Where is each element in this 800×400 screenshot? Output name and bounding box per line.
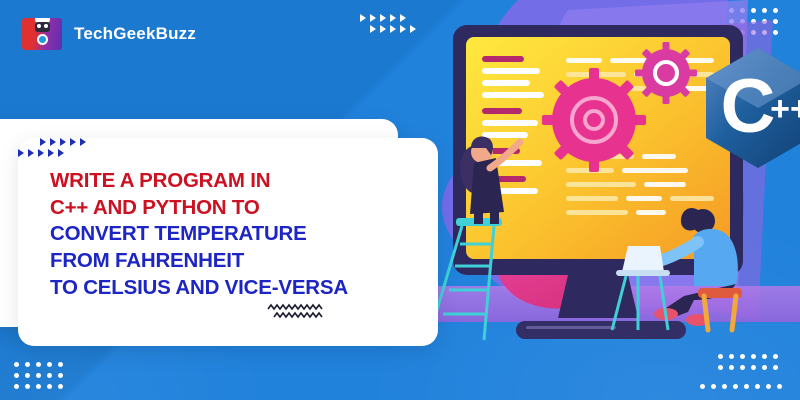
banner-root: TechGeekBuzz: [0, 0, 800, 400]
zigzag-line-icon: [266, 303, 342, 321]
page-title: WRITE A PROGRAM IN C++ AND PYTHON TO CON…: [50, 168, 390, 301]
headline-line-4: FROM FAHRENHEIT: [50, 248, 390, 275]
svg-text:++: ++: [770, 90, 800, 128]
headline-line-2: C++ AND PYTHON TO: [50, 195, 390, 222]
headline-line-3: CONVERT TEMPERATURE: [50, 221, 390, 248]
gear-icon: [542, 68, 646, 172]
svg-text:C: C: [721, 64, 776, 149]
brand-logo[interactable]: TechGeekBuzz: [22, 18, 196, 50]
brand-name: TechGeekBuzz: [74, 24, 196, 44]
gear-icon: [635, 42, 697, 104]
developers-at-monitor-illustration: C ++: [398, 0, 800, 400]
keyboard-icon: [516, 321, 686, 339]
headline-line-1: WRITE A PROGRAM IN: [50, 168, 390, 195]
dot-grid-icon: [14, 362, 63, 389]
techgeekbuzz-mascot-icon: [22, 18, 62, 50]
headline-line-5: TO CELSIUS AND VICE-VERSA: [50, 275, 390, 302]
